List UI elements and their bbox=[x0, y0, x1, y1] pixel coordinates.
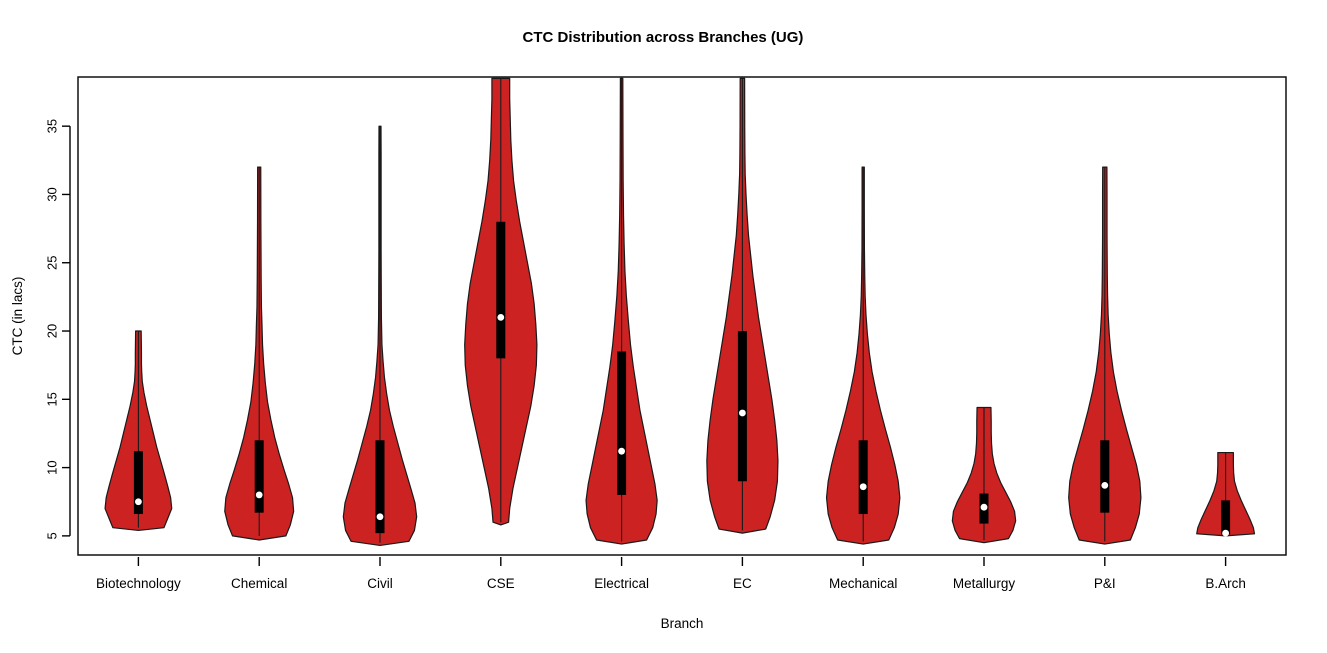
iqr-box bbox=[617, 352, 626, 495]
x-tick-label-biotechnology: Biotechnology bbox=[96, 576, 181, 591]
y-tick-label: 30 bbox=[45, 187, 60, 201]
chart-canvas: CTC Distribution across Branches (UG) Br… bbox=[0, 0, 1327, 653]
iqr-box bbox=[859, 440, 868, 514]
x-tick-label-mechanical: Mechanical bbox=[829, 576, 897, 591]
median-marker bbox=[1222, 530, 1229, 537]
x-tick-label-b-arch: B.Arch bbox=[1205, 576, 1246, 591]
median-marker bbox=[135, 498, 142, 505]
iqr-box bbox=[1221, 500, 1230, 534]
iqr-box bbox=[738, 331, 747, 481]
x-tick-label-electrical: Electrical bbox=[594, 576, 649, 591]
median-marker bbox=[256, 492, 263, 499]
iqr-box bbox=[496, 222, 505, 359]
iqr-box bbox=[255, 440, 264, 512]
median-marker bbox=[981, 504, 988, 511]
y-tick-label: 15 bbox=[45, 392, 60, 406]
x-tick-label-chemical: Chemical bbox=[231, 576, 287, 591]
y-tick-label: 25 bbox=[45, 256, 60, 270]
median-marker bbox=[618, 448, 625, 455]
x-tick-label-civil: Civil bbox=[367, 576, 393, 591]
y-tick-label: 35 bbox=[45, 119, 60, 133]
y-axis-title: CTC (in lacs) bbox=[10, 277, 25, 356]
median-marker bbox=[1101, 482, 1108, 489]
median-marker bbox=[860, 483, 867, 490]
median-marker bbox=[739, 410, 746, 417]
x-tick-label-cse: CSE bbox=[487, 576, 515, 591]
x-axis-title: Branch bbox=[661, 616, 704, 631]
median-marker bbox=[377, 513, 384, 520]
median-marker bbox=[497, 314, 504, 321]
x-tick-label-metallurgy: Metallurgy bbox=[953, 576, 1016, 591]
y-tick-label: 5 bbox=[45, 532, 60, 539]
iqr-box bbox=[1100, 440, 1109, 512]
y-tick-label: 20 bbox=[45, 324, 60, 338]
y-tick-label: 10 bbox=[45, 460, 60, 474]
x-tick-label-ec: EC bbox=[733, 576, 752, 591]
page-title: CTC Distribution across Branches (UG) bbox=[523, 29, 804, 46]
x-tick-label-p-i: P&I bbox=[1094, 576, 1116, 591]
violin-plot-figure: CTC Distribution across Branches (UG) Br… bbox=[0, 0, 1327, 653]
